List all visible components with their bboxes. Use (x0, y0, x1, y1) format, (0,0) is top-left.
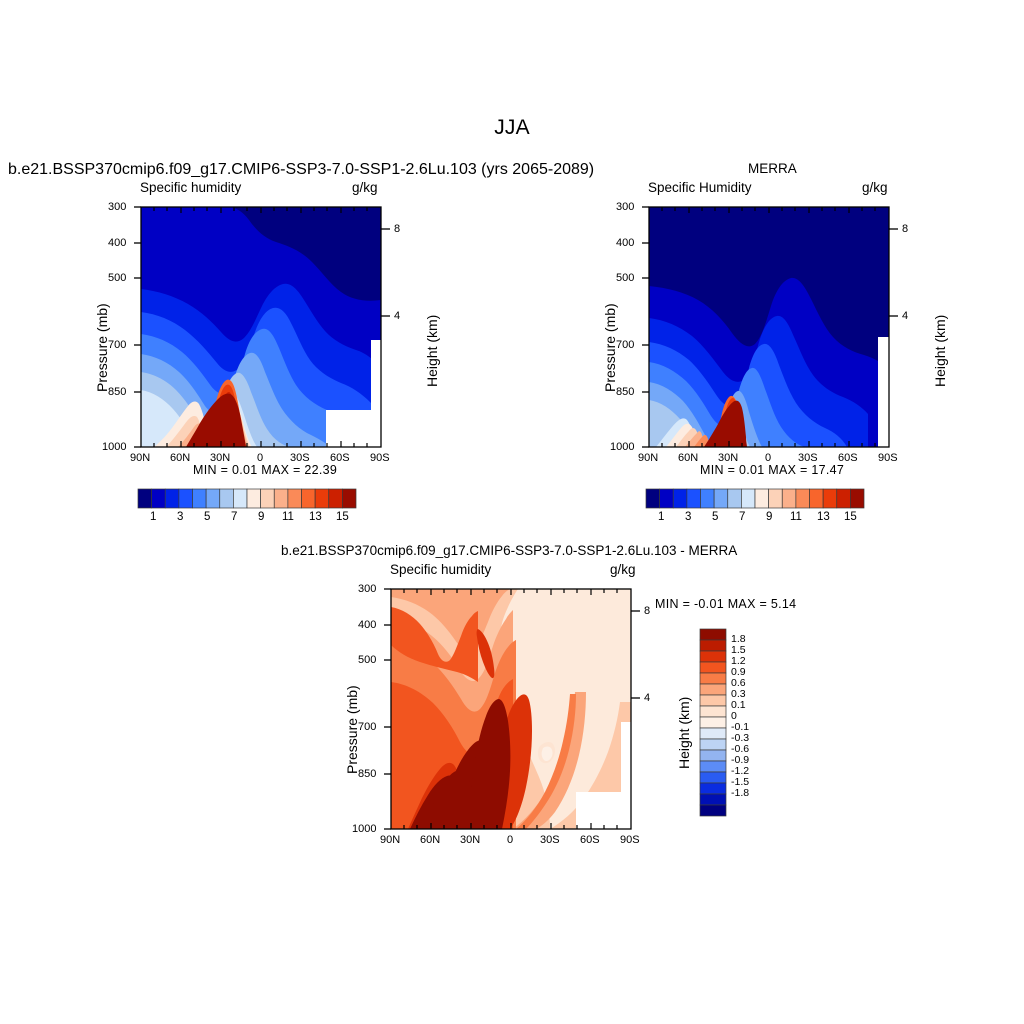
diff-y2tick-4: 4 (644, 692, 650, 704)
diff-xtick-60S: 60S (580, 834, 600, 846)
colorbar-swatch (700, 662, 726, 673)
obs-ytick-500: 500 (616, 272, 634, 284)
diff-xtick-30N: 30N (460, 834, 480, 846)
model-cbar-lbl-7: 7 (231, 511, 237, 523)
model-y-ticks (134, 207, 141, 447)
colorbar-swatch (700, 651, 726, 662)
colorbar-swatch (138, 489, 152, 508)
obs-xtick-90S: 90S (878, 452, 898, 464)
colorbar-swatch (152, 489, 166, 508)
diff-xtick-90N: 90N (380, 834, 400, 846)
model-ytick-1000: 1000 (102, 441, 126, 453)
obs-ytick-400: 400 (616, 237, 634, 249)
obs-cbar-lbl-13: 13 (817, 511, 830, 523)
model-ytick-850: 850 (108, 386, 126, 398)
colorbar-swatch (700, 706, 726, 717)
colorbar-swatch (700, 673, 726, 684)
colorbar-swatch (700, 717, 726, 728)
colorbar-swatch (700, 728, 726, 739)
colorbar-swatch (769, 489, 783, 508)
diff-contour-field (391, 589, 631, 829)
colorbar-swatch (700, 629, 726, 640)
colorbar-swatch (796, 489, 810, 508)
colorbar-swatch (206, 489, 220, 508)
model-xtick-30N: 30N (210, 452, 230, 464)
diff-plot (250, 382, 750, 882)
colorbar-swatch (700, 750, 726, 761)
model-ytick-400: 400 (108, 237, 126, 249)
obs-ytick-300: 300 (616, 201, 634, 213)
obs-cbar-lbl-9: 9 (766, 511, 772, 523)
colorbar-swatch (220, 489, 234, 508)
obs-y2tick-8: 8 (902, 223, 908, 235)
diff-y-ticks (384, 589, 391, 829)
obs-cbar-lbl-15: 15 (844, 511, 857, 523)
colorbar-swatch (700, 684, 726, 695)
model-ytick-700: 700 (108, 339, 126, 351)
diff-y2-ticks (631, 611, 640, 698)
model-cbar-lbl-5: 5 (204, 511, 210, 523)
colorbar-swatch (700, 640, 726, 651)
diff-ytick-850: 850 (358, 768, 376, 780)
obs-y2tick-4: 4 (902, 310, 908, 322)
obs-cbar-lbl-11: 11 (790, 511, 802, 523)
colorbar-swatch (700, 783, 726, 794)
diff-xtick-30S: 30S (540, 834, 560, 846)
model-cbar-lbl-1: 1 (150, 511, 156, 523)
diff-ytick-700: 700 (358, 721, 376, 733)
diff-y2tick-8: 8 (644, 605, 650, 617)
colorbar-swatch (700, 739, 726, 750)
diff-ytick-500: 500 (358, 654, 376, 666)
colorbar-swatch (700, 794, 726, 805)
colorbar-swatch (782, 489, 796, 508)
colorbar-swatch (850, 489, 864, 508)
colorbar-swatch (837, 489, 851, 508)
model-ytick-500: 500 (108, 272, 126, 284)
model-cbar-lbl-3: 3 (177, 511, 183, 523)
model-y2-ticks (381, 229, 390, 316)
colorbar-swatch (179, 489, 193, 508)
diff-xtick-90S: 90S (620, 834, 640, 846)
model-xtick-60N: 60N (170, 452, 190, 464)
colorbar-swatch (700, 772, 726, 783)
colorbar-swatch (700, 695, 726, 706)
colorbar-swatch (755, 489, 769, 508)
model-y2tick-4: 4 (394, 310, 400, 322)
colorbar-swatch (193, 489, 207, 508)
diff-ytick-300: 300 (358, 583, 376, 595)
colorbar-swatch (810, 489, 824, 508)
obs-xtick-60S: 60S (838, 452, 858, 464)
obs-xtick-30S: 30S (798, 452, 818, 464)
obs-ytick-700: 700 (616, 339, 634, 351)
model-y2tick-8: 8 (394, 223, 400, 235)
diff-cbar-label: -1.8 (731, 787, 749, 799)
model-xtick-90N: 90N (130, 452, 150, 464)
colorbar-swatch (823, 489, 837, 508)
obs-y2-ticks (889, 229, 898, 316)
diff-ytick-1000: 1000 (352, 823, 376, 835)
diff-ytick-400: 400 (358, 619, 376, 631)
obs-xtick-0: 0 (765, 452, 771, 464)
colorbar-swatch (233, 489, 247, 508)
diff-xtick-0: 0 (507, 834, 513, 846)
model-ytick-300: 300 (108, 201, 126, 213)
colorbar-swatch (165, 489, 179, 508)
diff-xtick-60N: 60N (420, 834, 440, 846)
colorbar-swatch (700, 805, 726, 816)
colorbar-swatch (700, 761, 726, 772)
